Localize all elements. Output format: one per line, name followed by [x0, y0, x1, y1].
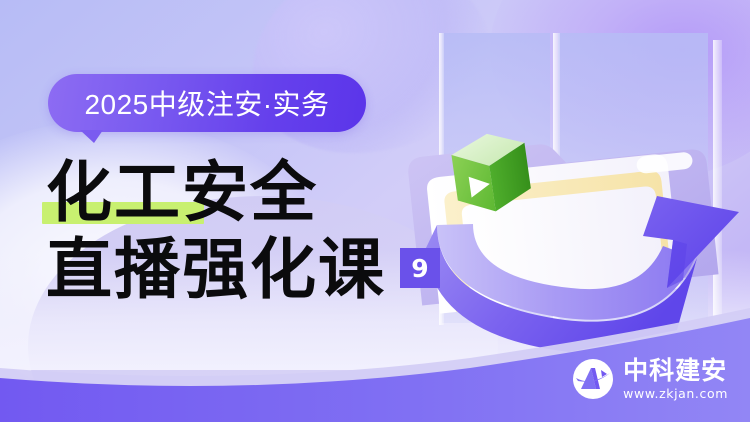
- headline-line-1-row: 化工安全: [46, 148, 466, 230]
- course-category-tag: 2025中级注安·实务: [48, 74, 366, 132]
- brand-logo: 中科建安 www.zkjan.com: [572, 358, 728, 401]
- headline-line-2-row: 直播强化课 9: [46, 226, 466, 312]
- tag-label: 2025中级注安·实务: [84, 83, 329, 123]
- tag-pointer: [80, 130, 103, 143]
- logo-name: 中科建安: [623, 358, 727, 383]
- headline-line-1: 化工安全: [46, 154, 318, 230]
- logo-url: www.zkjan.com: [623, 388, 728, 401]
- course-banner: 2025中级注安·实务 化工安全 直播强化课 9 中科建安 www.zkjan.…: [0, 0, 750, 422]
- headline-line-2: 直播强化课: [46, 231, 386, 307]
- episode-badge: 9: [400, 248, 440, 288]
- tag-pill: 2025中级注安·实务: [48, 74, 366, 132]
- headline-block: 化工安全 直播强化课 9: [46, 148, 466, 312]
- zkjan-emblem-icon: [572, 358, 614, 400]
- logo-text-block: 中科建安 www.zkjan.com: [623, 358, 728, 401]
